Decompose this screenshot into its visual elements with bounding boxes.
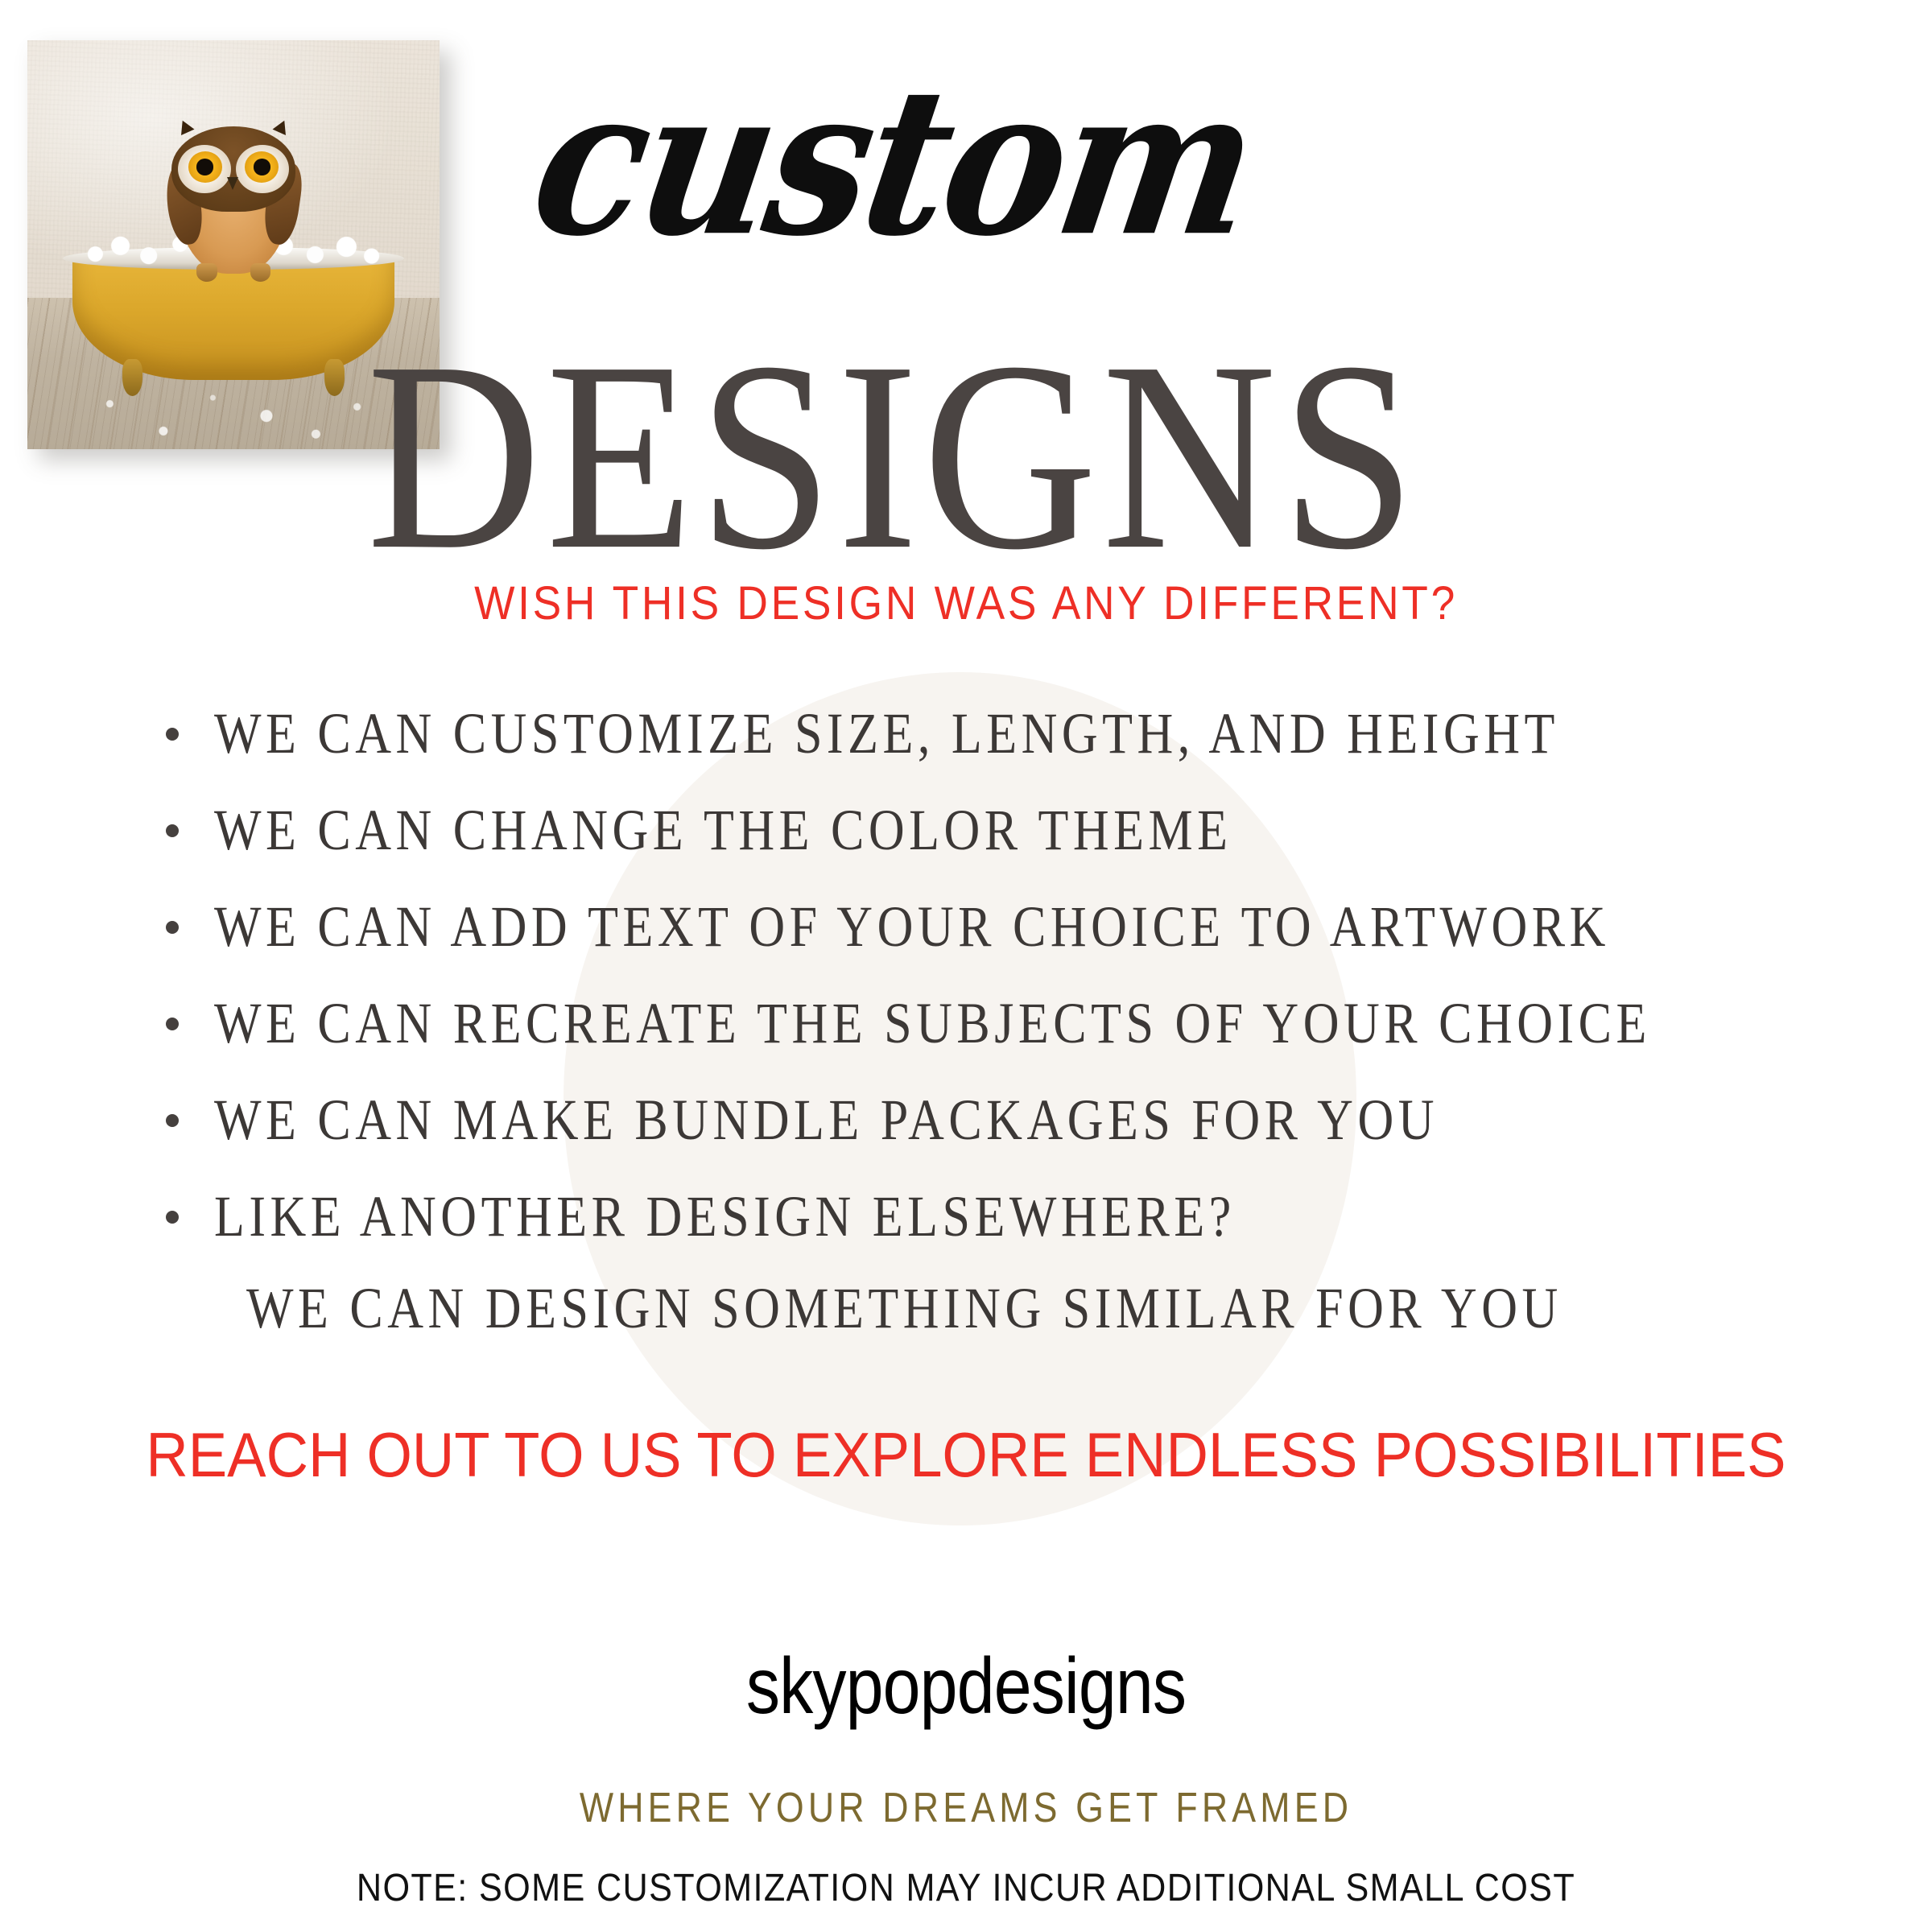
list-item-label: WE CAN CHANGE THE COLOR THEME (214, 802, 1232, 860)
customization-options-list: WE CAN CUSTOMIZE SIZE, LENGTH, AND HEIGH… (161, 702, 1811, 1373)
footer-note: NOTE: SOME CUSTOMIZATION MAY INCUR ADDIT… (97, 1866, 1835, 1910)
list-item-label: WE CAN ADD TEXT OF YOUR CHOICE TO ARTWOR… (214, 898, 1610, 956)
list-item-label: WE CAN MAKE BUNDLE PACKAGES FOR YOU (214, 1092, 1439, 1150)
list-item: WE CAN CHANGE THE COLOR THEME (161, 799, 1811, 863)
list-item: WE CAN CUSTOMIZE SIZE, LENGTH, AND HEIGH… (161, 702, 1811, 766)
owl-talon-right (250, 263, 271, 282)
page-title-designs: DESIGNS (322, 320, 1465, 591)
call-to-action-text: REACH OUT TO US TO EXPLORE ENDLESS POSSI… (68, 1418, 1864, 1492)
owl-pupil-right (254, 159, 271, 175)
list-item: WE CAN RECREATE THE SUBJECTS OF YOUR CHO… (161, 992, 1811, 1056)
list-item: WE CAN MAKE BUNDLE PACKAGES FOR YOU (161, 1088, 1811, 1153)
list-item-label: LIKE ANOTHER DESIGN ELSEWHERE? (214, 1188, 1236, 1246)
list-item-label: WE CAN CUSTOMIZE SIZE, LENGTH, AND HEIGH… (214, 705, 1559, 763)
owl-talon-left (196, 263, 217, 282)
tagline-question: WISH THIS DESIGN WAS ANY DIFFERENT? (77, 576, 1855, 630)
list-item-label: WE CAN RECREATE THE SUBJECTS OF YOUR CHO… (214, 995, 1651, 1053)
bullet-dot-icon (166, 1211, 179, 1224)
owl-pupil-left (196, 159, 214, 175)
bathtub-foot-left (122, 359, 143, 396)
brand-name: skypopdesigns (135, 1641, 1797, 1732)
script-heading-custom: custom (435, 62, 1352, 265)
bullet-dot-icon (166, 921, 179, 934)
list-item: LIKE ANOTHER DESIGN ELSEWHERE? (161, 1185, 1811, 1249)
list-item: WE CAN ADD TEXT OF YOUR CHOICE TO ARTWOR… (161, 895, 1811, 960)
custom-designs-poster: custom DESIGNS WISH THIS DESIGN WAS ANY … (0, 0, 1932, 1932)
bullet-dot-icon (166, 824, 179, 837)
bullet-dot-icon (166, 1018, 179, 1030)
bullet-dot-icon (166, 728, 179, 741)
list-item-continuation: WE CAN DESIGN SOMETHING SIMILAR FOR YOU (161, 1277, 1811, 1341)
owl-beak (227, 177, 238, 190)
list-item-label: WE CAN DESIGN SOMETHING SIMILAR FOR YOU (246, 1280, 1563, 1338)
brand-tagline: WHERE YOUR DREAMS GET FRAMED (135, 1784, 1797, 1832)
bullet-dot-icon (166, 1114, 179, 1127)
